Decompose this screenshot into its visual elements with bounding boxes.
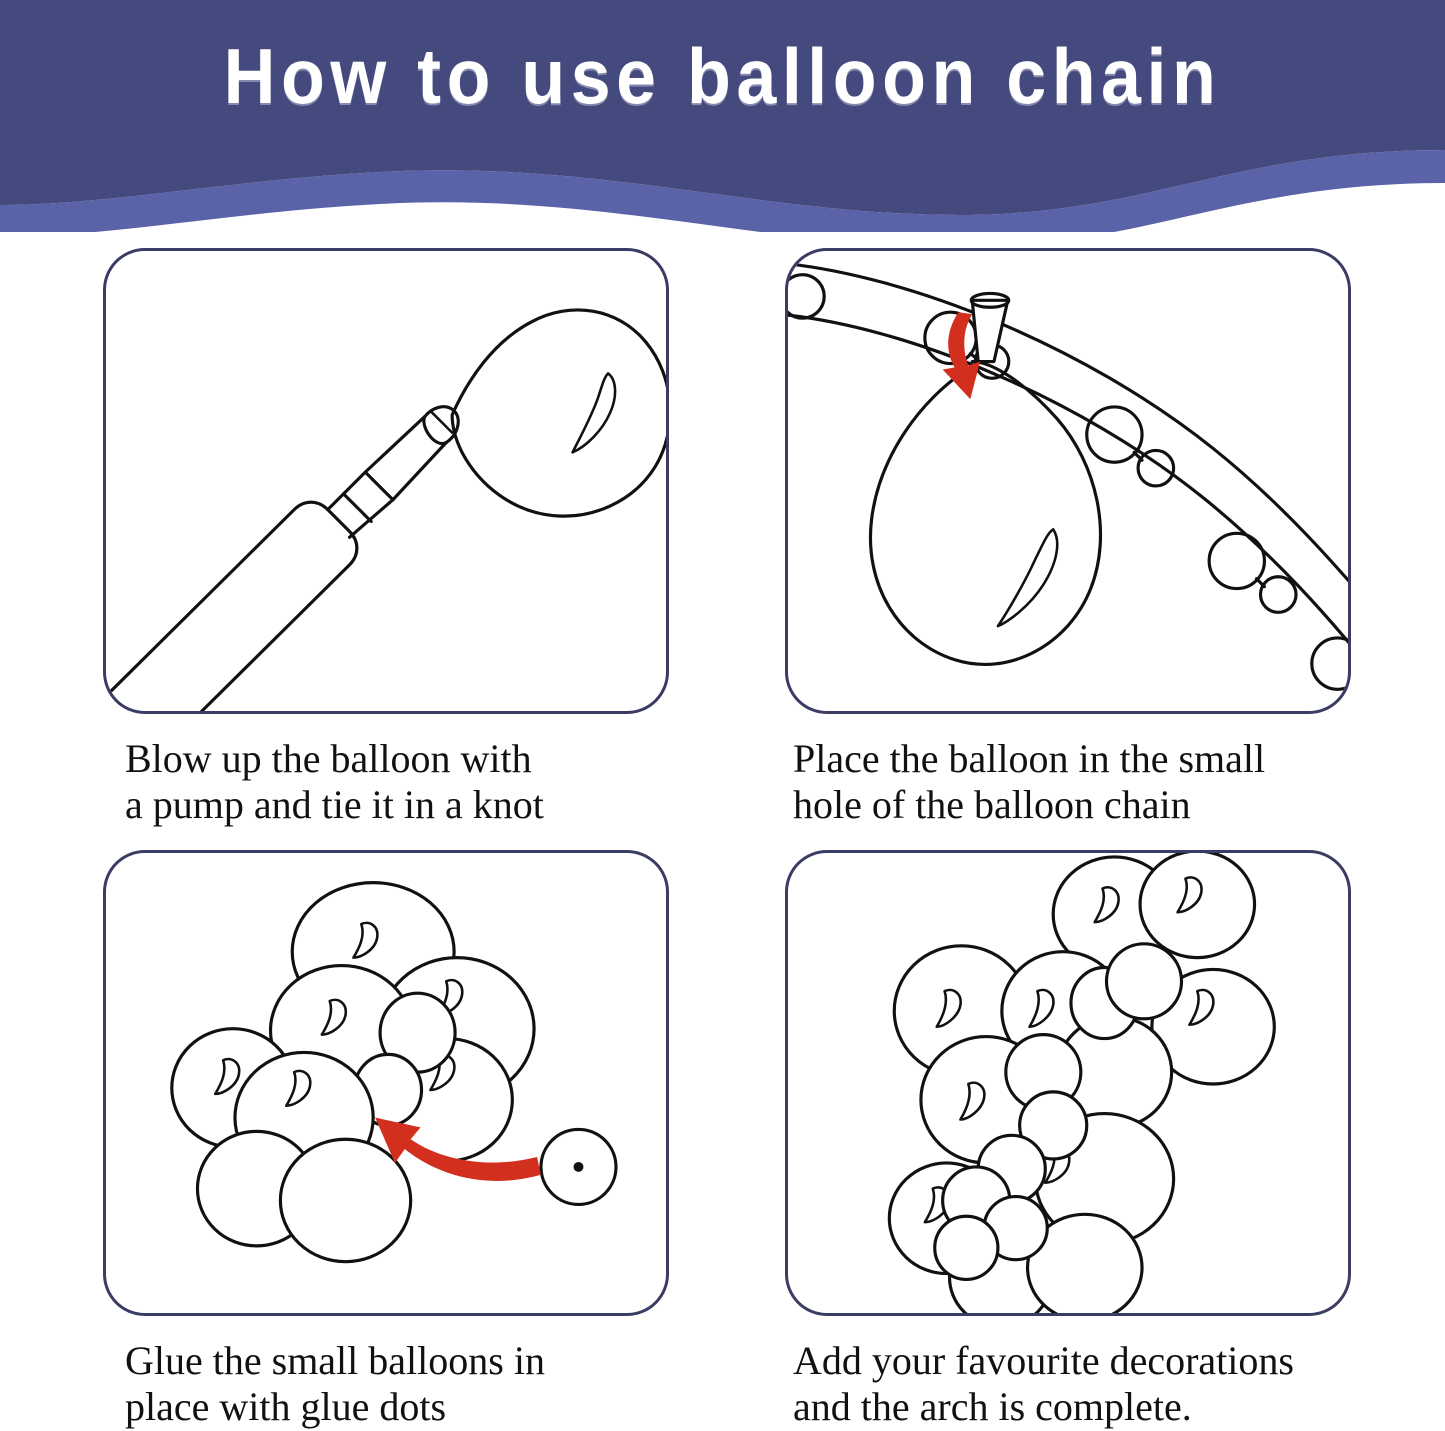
glue-dot <box>541 1129 616 1204</box>
balloon-cluster <box>172 883 534 1262</box>
page-header: How to use balloon chain <box>0 0 1445 232</box>
hanging-balloon-highlight <box>998 529 1057 626</box>
step-1-illustration-panel <box>103 248 669 714</box>
balloon-chain-strip <box>788 263 1348 670</box>
page-title: How to use balloon chain <box>58 30 1387 122</box>
step-4: Add your favourite decorations and the a… <box>785 850 1355 1430</box>
balloon-cluster-glue-drawing <box>106 853 666 1313</box>
keyhole-slot-5 <box>1312 638 1348 689</box>
step-2-illustration-panel <box>785 248 1351 714</box>
finished-balloon-arch-drawing <box>788 853 1348 1313</box>
steps-grid: Blow up the balloon with a pump and tie … <box>0 232 1445 1431</box>
balloon-arch <box>889 853 1274 1313</box>
step-2-caption: Place the balloon in the small hole of t… <box>785 736 1355 828</box>
step-1-caption: Blow up the balloon with a pump and tie … <box>103 736 673 828</box>
pump-inflating-balloon-drawing <box>106 251 666 711</box>
step-2: Place the balloon in the small hole of t… <box>785 248 1355 828</box>
step-3-illustration-panel <box>103 850 669 1316</box>
pump-collar <box>328 472 393 537</box>
pump-nozzle <box>365 417 446 500</box>
step-4-illustration-panel <box>785 850 1351 1316</box>
keyhole-slot-1 <box>788 275 824 318</box>
step-3-caption: Glue the small balloons in place with gl… <box>103 1338 673 1430</box>
step-1: Blow up the balloon with a pump and tie … <box>103 248 673 828</box>
hand-pump <box>106 502 357 711</box>
keyhole-slot-4 <box>1209 533 1296 612</box>
step-4-caption: Add your favourite decorations and the a… <box>785 1338 1355 1430</box>
balloon-highlight <box>573 373 616 452</box>
inflated-balloon <box>452 310 666 516</box>
balloon-into-chain-drawing <box>788 251 1348 711</box>
balloon-knot-cone <box>971 293 1009 361</box>
step-3: Glue the small balloons in place with gl… <box>103 850 673 1430</box>
